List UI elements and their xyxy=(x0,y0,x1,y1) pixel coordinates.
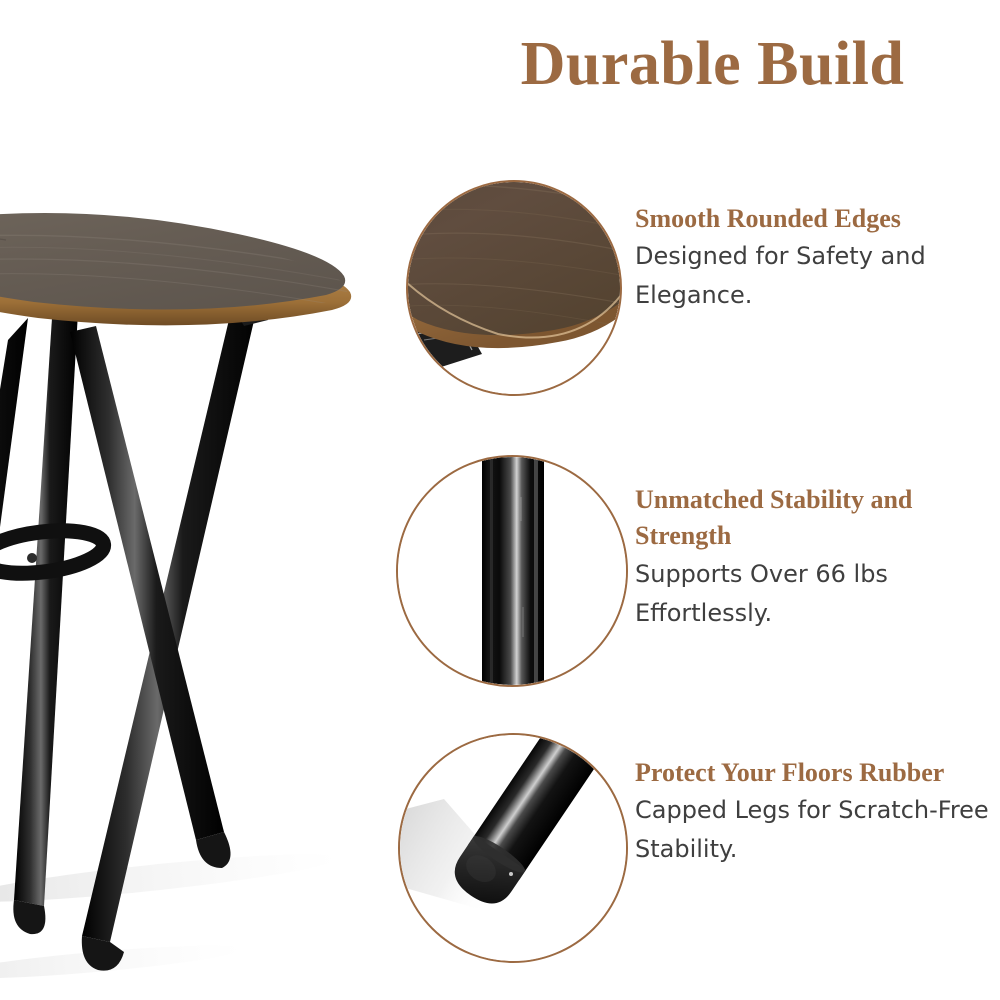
infographic-page: Durable Build xyxy=(0,0,1000,1000)
page-title: Durable Build xyxy=(440,32,985,97)
feature-heading-smooth-rounded-edges: Smooth Rounded Edges xyxy=(635,201,995,237)
detail-circle-smooth-rounded-edges xyxy=(406,180,622,396)
feature-text-smooth-rounded-edges: Smooth Rounded Edges Designed for Safety… xyxy=(635,201,995,315)
detail-circle-protect-your-floors xyxy=(398,733,628,963)
table-leg-front-left xyxy=(13,312,78,934)
rubber-capped-leg-foot-closeup xyxy=(400,735,626,961)
product-photo-image xyxy=(0,200,400,990)
feature-body-protect-your-floors: Capped Legs for Scratch-Free Stability. xyxy=(635,791,995,869)
feature-heading-protect-your-floors: Protect Your Floors Rubber xyxy=(635,755,995,791)
feature-body-unmatched-stability: Supports Over 66 lbs Effortlessly. xyxy=(635,555,995,633)
feature-text-unmatched-stability: Unmatched Stability and Strength Support… xyxy=(635,482,995,633)
product-photo xyxy=(0,200,400,990)
feature-heading-unmatched-stability: Unmatched Stability and Strength xyxy=(635,482,995,555)
feature-text-protect-your-floors: Protect Your Floors Rubber Capped Legs f… xyxy=(635,755,995,869)
feature-body-smooth-rounded-edges: Designed for Safety and Elegance. xyxy=(635,237,995,315)
tabletop-rounded-edge-closeup xyxy=(408,182,620,394)
table-leg-front-right xyxy=(70,326,231,868)
black-metal-leg-tube-closeup xyxy=(398,457,626,685)
detail-circle-unmatched-stability xyxy=(396,455,628,687)
